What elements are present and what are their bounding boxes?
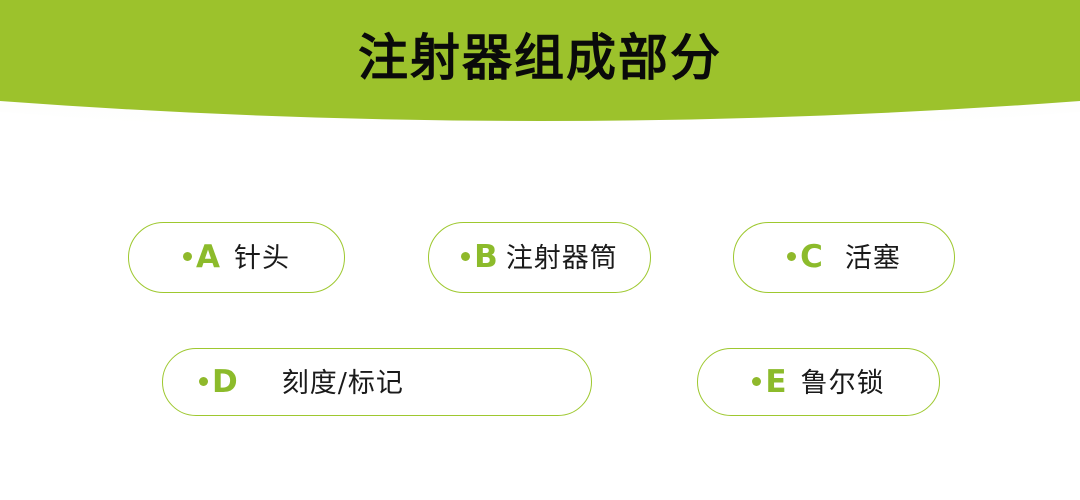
pill-b-label: 注射器筒 — [506, 245, 618, 272]
part-pill-e[interactable]: E 鲁尔锁 — [697, 348, 940, 416]
page-title: 注射器组成部分 — [0, 0, 1080, 108]
pill-c-content: C 活塞 — [787, 242, 901, 273]
pill-d-content: D 刻度/标记 — [199, 367, 404, 398]
pill-d-letter: D — [212, 367, 238, 398]
pill-a-letter: A — [196, 242, 220, 273]
pill-e-content: E 鲁尔锁 — [752, 367, 884, 398]
pill-b-content: B 注射器筒 — [461, 242, 618, 273]
pill-c-label: 活塞 — [845, 245, 901, 272]
bullet-dot-icon — [752, 377, 761, 386]
pill-e-letter: E — [765, 367, 786, 398]
pill-e-label: 鲁尔锁 — [801, 370, 885, 397]
part-pill-d[interactable]: D 刻度/标记 — [162, 348, 592, 416]
part-pill-a[interactable]: A 针头 — [128, 222, 345, 293]
pill-d-label: 刻度/标记 — [282, 370, 404, 397]
pill-a-label: 针头 — [234, 245, 290, 272]
part-pill-c[interactable]: C 活塞 — [733, 222, 955, 293]
bullet-dot-icon — [461, 252, 470, 261]
bullet-dot-icon — [183, 252, 192, 261]
pill-b-letter: B — [474, 242, 498, 273]
bullet-dot-icon — [199, 377, 208, 386]
bullet-dot-icon — [787, 252, 796, 261]
pill-c-letter: C — [800, 242, 823, 273]
header-banner: 注射器组成部分 — [0, 0, 1080, 150]
part-pill-b[interactable]: B 注射器筒 — [428, 222, 651, 293]
pill-a-content: A 针头 — [183, 242, 290, 273]
